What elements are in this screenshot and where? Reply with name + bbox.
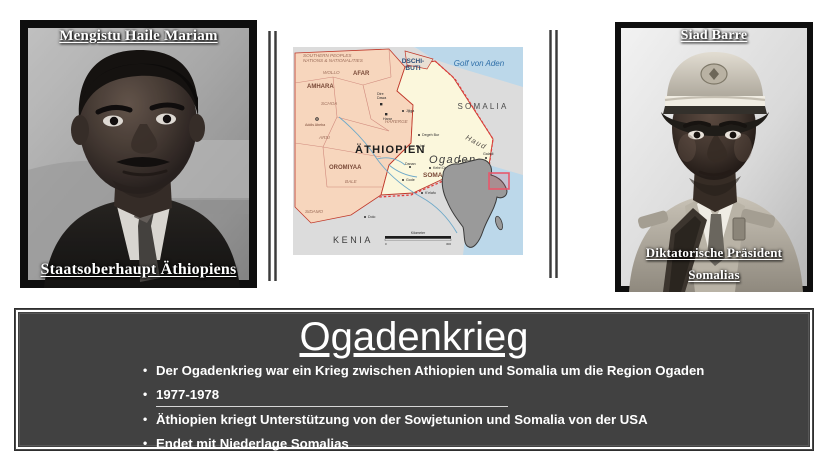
portrait-left-name: Mengistu Haile Mariam [20, 28, 257, 45]
map-label-amhara: AMHARA [307, 84, 334, 90]
page-title: Ogadenkrieg [20, 316, 808, 358]
content-panel-inner: Ogadenkrieg Der Ogadenkrieg war ein Krie… [19, 313, 809, 446]
bullet-text: 1977-1978 [156, 384, 508, 408]
map-ogaden-region: .cn { font-family:"Liberation Sans",sans… [293, 47, 523, 255]
portrait-right-role-line1: Diktatorische Präsident [646, 245, 782, 260]
map-city-degeh-bur: Degeh Bur [422, 133, 440, 137]
map-city-kelafo: K'elafo [425, 191, 436, 195]
photo-mengistu-haile-mariam [20, 20, 257, 288]
bullet-text: Äthiopien kriegt Unterstützung von der S… [156, 412, 648, 427]
divider-left-bar-2 [274, 31, 277, 281]
map-city-gode: Gode [406, 178, 415, 182]
map-scale-label: Kilometer [411, 231, 426, 235]
list-item: Endet mit Niederlage Somalias [156, 433, 808, 455]
divider-left [268, 31, 277, 281]
map-city-dolo: Dolo [368, 215, 375, 219]
map-scale-max: 300 [446, 242, 451, 246]
bullet-list: Der Ogadenkrieg war ein Krieg zwischen A… [20, 360, 808, 454]
map-label-sidamo: SIDAMO [305, 209, 324, 214]
list-item: 1977-1978 [156, 384, 808, 408]
map-label-djibouti-line2: BUTI [405, 65, 420, 72]
map-label-djibouti-line1: DSCHI- [402, 58, 424, 65]
bullet-text: Der Ogadenkrieg war ein Krieg zwischen A… [156, 363, 704, 378]
content-panel: Ogadenkrieg Der Ogadenkrieg war ein Krie… [14, 308, 814, 451]
portrait-left-name-text: Mengistu Haile Mariam [59, 28, 217, 44]
map-label-schoa: SCHOA [321, 101, 337, 106]
map-label-southern-peoples-2: NATIONS & NATIONALITIES [303, 58, 364, 63]
portrait-left-role-text: Staatsoberhaupt Äthiopiens [41, 261, 237, 278]
map-label-arsi: ARSI [318, 135, 330, 140]
map-label-kenya: KENIA [333, 235, 373, 245]
divider-right-bar-1 [549, 30, 552, 278]
map-label-somalia-country: SOMALIA [458, 102, 509, 111]
map-city-addis-abeba: Addis Abeba [305, 123, 325, 127]
divider-right [549, 30, 558, 278]
map-label-ethiopia: ÄTHIOPIEN [355, 143, 426, 156]
map-label-wollo: WOLLO [323, 70, 340, 75]
map-label-oromiyaa: OROMIYAA [329, 165, 362, 171]
divider-right-bar-2 [555, 30, 558, 278]
portrait-right-role-line2: Somalias [688, 267, 739, 282]
map-label-afar: AFAR [353, 71, 370, 77]
divider-left-bar-1 [268, 31, 271, 281]
list-item: Der Ogadenkrieg war ein Krieg zwischen A… [156, 360, 808, 382]
map-city-imi: Imi [420, 144, 425, 148]
map-city-harar: Harar [383, 117, 393, 121]
portrait-card-siad-barre: Siad Barre Diktatorische Präsident Somal… [615, 22, 813, 292]
portrait-card-mengistu: Mengistu Haile Mariam Staatsoberhaupt Ät… [20, 20, 257, 288]
map-city-danan: Danan [405, 162, 416, 166]
map-label-bale: BALE [345, 179, 358, 184]
portrait-right-name: Siad Barre [615, 28, 813, 44]
map-city-dire-dawa-2: Dawa [377, 96, 386, 100]
map-city-jijiga: Jijiga [406, 109, 414, 113]
portrait-right-name-text: Siad Barre [681, 28, 748, 43]
list-item: Äthiopien kriegt Unterstützung von der S… [156, 409, 808, 431]
map-label-gulf-of-aden: Golf von Aden [454, 59, 505, 68]
map-svg: .cn { font-family:"Liberation Sans",sans… [293, 47, 523, 255]
map-city-galadi: Galadi [483, 152, 494, 156]
portrait-right-role: Diktatorische Präsident Somalias [615, 242, 813, 286]
bullet-text: Endet mit Niederlage Somalias [156, 436, 349, 451]
portrait-left-role: Staatsoberhaupt Äthiopiens [20, 261, 257, 279]
presentation-slide: Mengistu Haile Mariam Staatsoberhaupt Ät… [0, 0, 828, 466]
